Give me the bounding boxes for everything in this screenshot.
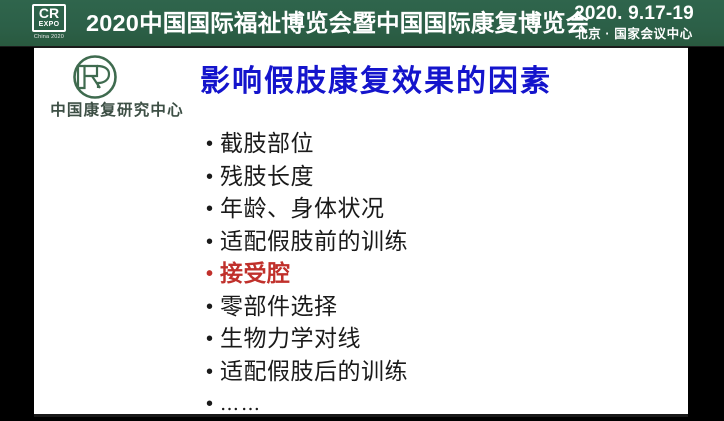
bullet-list: • 截肢部位 • 残肢长度 • 年龄、身体状况 • 适配假肢前的训练 • 接受腔…: [206, 128, 646, 421]
event-date: 2020. 9.17-19: [554, 2, 714, 26]
list-item-label: 零部件选择: [220, 291, 338, 324]
event-title: 2020中国国际福祉博览会暨中国国际康复博览会: [86, 8, 546, 38]
bullet-dot-icon: •: [206, 193, 220, 226]
cr-expo-logo: CR EXPO China 2020: [28, 4, 70, 44]
bullet-dot-icon: •: [206, 356, 220, 389]
list-item: • 截肢部位: [206, 128, 646, 161]
letterbox-left: [0, 47, 34, 420]
bullet-dot-icon: •: [206, 258, 220, 291]
list-item-label: 适配假肢前的训练: [220, 226, 408, 259]
rehabilitation-center-name: 中国康复研究中心: [42, 98, 192, 120]
list-item: • 零部件选择: [206, 291, 646, 324]
crc-monogram-icon: [64, 54, 126, 100]
bullet-dot-icon: •: [206, 291, 220, 324]
letterbox-right: [688, 47, 724, 420]
list-item-label: 生物力学对线: [220, 323, 361, 356]
slide-canvas: 中国康复研究中心 影响假肢康复效果的因素 • 截肢部位 • 残肢长度 • 年龄、…: [34, 48, 688, 415]
list-item-label: 年龄、身体状况: [220, 193, 385, 226]
cr-expo-logo-box: CR EXPO: [32, 4, 66, 32]
list-item-highlighted: • 接受腔: [206, 258, 646, 291]
list-item: • 残肢长度: [206, 161, 646, 194]
event-meta: 2020. 9.17-19 北京 · 国家会议中心: [554, 2, 714, 43]
cr-expo-logo-word: EXPO: [39, 20, 60, 29]
list-item-label: 残肢长度: [220, 161, 314, 194]
cr-expo-logo-subtitle: China 2020: [34, 34, 64, 40]
list-item: • 适配假肢后的训练: [206, 356, 646, 389]
cr-expo-logo-mark: CR: [39, 7, 59, 20]
list-item-label: 适配假肢后的训练: [220, 356, 408, 389]
list-item: • 生物力学对线: [206, 323, 646, 356]
bullet-dot-icon: •: [206, 323, 220, 356]
bullet-dot-icon: •: [206, 226, 220, 259]
list-item: • 适配假肢前的训练: [206, 226, 646, 259]
bullet-dot-icon: •: [206, 128, 220, 161]
rehabilitation-center-logo: 中国康复研究中心: [42, 54, 192, 122]
bullet-dot-icon: •: [206, 161, 220, 194]
list-item-label: 接受腔: [220, 258, 291, 291]
event-venue: 北京 · 国家会议中心: [554, 26, 714, 43]
event-banner: CR EXPO China 2020 2020中国国际福祉博览会暨中国国际康复博…: [0, 0, 724, 47]
slide-bottom-rule: [34, 414, 688, 417]
presentation-screenshot: CR EXPO China 2020 2020中国国际福祉博览会暨中国国际康复博…: [0, 0, 724, 420]
slide-title: 影响假肢康复效果的因素: [200, 62, 670, 102]
list-item-label: 截肢部位: [220, 128, 314, 161]
list-item: • 年龄、身体状况: [206, 193, 646, 226]
